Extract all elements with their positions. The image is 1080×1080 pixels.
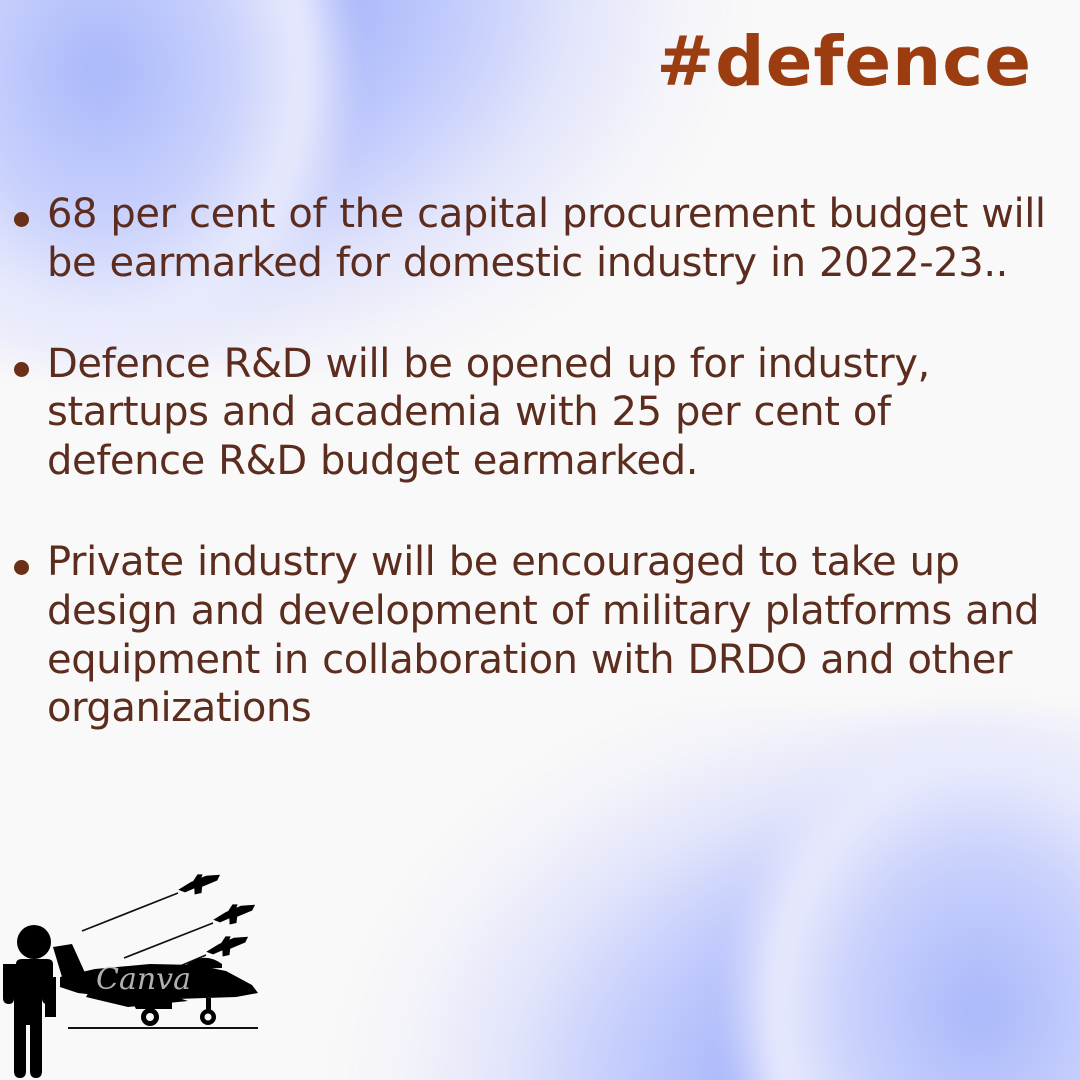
bullet-text: 68 per cent of the capital procurement b… bbox=[47, 190, 1054, 288]
person-silhouette-icon bbox=[3, 925, 56, 1078]
list-item: 68 per cent of the capital procurement b… bbox=[14, 190, 1054, 288]
bullet-text: Private industry will be encouraged to t… bbox=[47, 538, 1054, 733]
list-item: Defence R&D will be opened up for indust… bbox=[14, 340, 1054, 486]
bullet-text: Defence R&D will be opened up for indust… bbox=[47, 340, 1054, 486]
flying-jet-icon bbox=[176, 870, 223, 898]
poster-canvas: #defence 68 per cent of the capital proc… bbox=[0, 0, 1080, 1080]
list-item: Private industry will be encouraged to t… bbox=[14, 538, 1054, 733]
bullet-dot-icon bbox=[14, 560, 29, 575]
bullet-dot-icon bbox=[14, 362, 29, 377]
jet-illustration: Canva bbox=[0, 865, 300, 1080]
bullet-list: 68 per cent of the capital procurement b… bbox=[14, 190, 1054, 785]
hashtag-title: #defence bbox=[656, 28, 1032, 97]
flying-jet-icon bbox=[211, 900, 258, 928]
bullet-dot-icon bbox=[14, 212, 29, 227]
canva-watermark: Canva bbox=[96, 962, 191, 997]
grounded-jet-icon: Canva bbox=[53, 944, 258, 1026]
landing-gear bbox=[200, 998, 216, 1025]
flying-jet-icon bbox=[204, 932, 251, 960]
